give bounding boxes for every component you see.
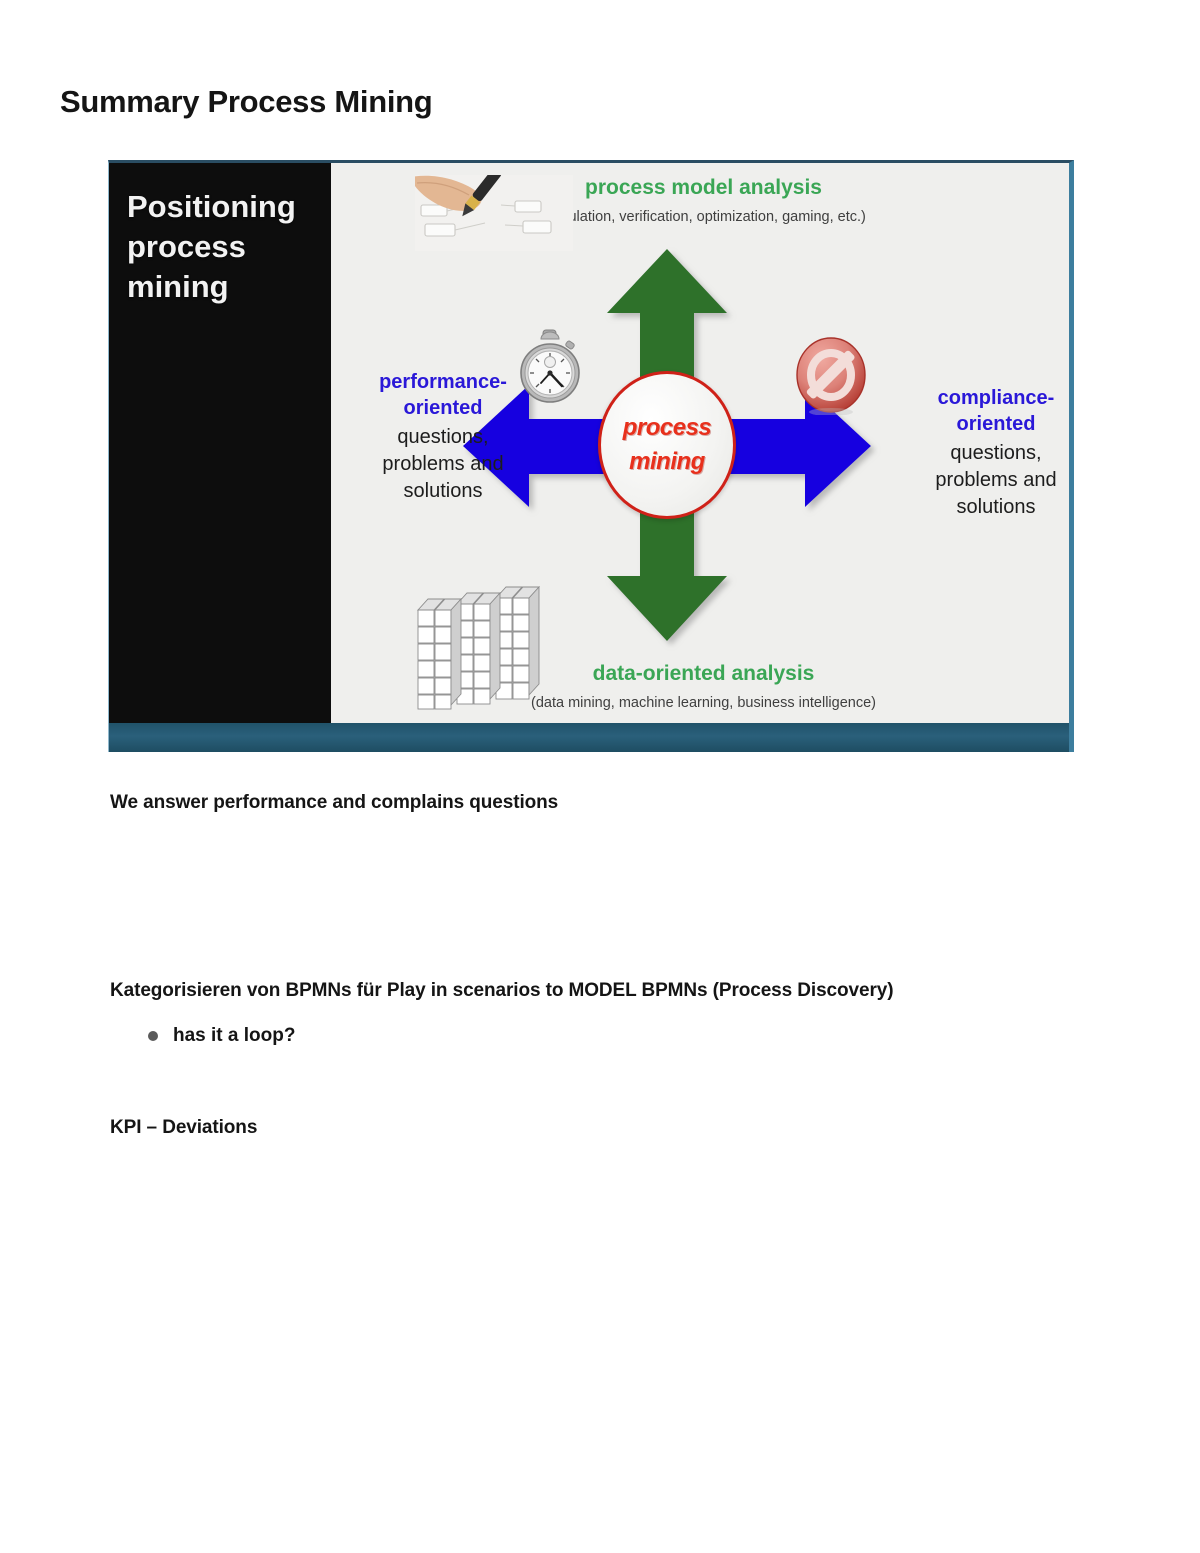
list-item: has it a loop? [148, 1025, 295, 1047]
label-performance-oriented: performance- oriented questions, problem… [343, 369, 543, 505]
label-compliance-oriented-body-line-3: solutions [901, 494, 1074, 521]
note-line-1: We answer performance and complains ques… [110, 792, 558, 814]
label-performance-oriented-body-line-3: solutions [343, 478, 543, 505]
center-label-line-2: mining [629, 445, 705, 479]
label-performance-oriented-body-line-1: questions, [343, 424, 543, 451]
hand-drawing-process-photo [415, 175, 573, 251]
label-compliance-oriented-heading-line-2: oriented [901, 411, 1074, 437]
bullet-dot-icon [148, 1031, 158, 1041]
slide-sidebar: Positioning process mining [109, 163, 331, 726]
label-performance-oriented-heading-line-1: performance- [343, 369, 543, 395]
label-compliance-oriented-heading-line-1: compliance- [901, 385, 1074, 411]
data-cube-icon [406, 558, 558, 710]
note-line-2: Kategorisieren von BPMNs für Play in sce… [110, 980, 893, 1002]
label-compliance-oriented-body-line-1: questions, [901, 440, 1074, 467]
slide-sidebar-title: Positioning process mining [127, 187, 296, 307]
label-compliance-oriented: compliance- oriented questions, problems… [901, 385, 1074, 521]
center-label-process-mining: process mining [598, 371, 736, 519]
slide-content: Positioning process mining [109, 163, 1069, 726]
slide-sidebar-title-line-3: mining [127, 267, 296, 307]
label-performance-oriented-heading-line-2: oriented [343, 395, 543, 421]
label-performance-oriented-body: questions, problems and solutions [343, 424, 543, 506]
slide-diagram-area: process mining process model analysis (s… [331, 163, 1069, 726]
prohibition-sign-icon [793, 331, 869, 415]
label-performance-oriented-heading: performance- oriented [343, 369, 543, 422]
center-label-line-1: process [623, 411, 712, 445]
slide-image-positioning-process-mining: Positioning process mining [108, 160, 1074, 752]
page-title: Summary Process Mining [60, 84, 432, 120]
label-compliance-oriented-heading: compliance- oriented [901, 385, 1074, 438]
label-performance-oriented-body-line-2: problems and [343, 451, 543, 478]
label-compliance-oriented-body-line-2: problems and [901, 467, 1074, 494]
label-compliance-oriented-body: questions, problems and solutions [901, 440, 1074, 522]
note-line-3: KPI – Deviations [110, 1117, 257, 1139]
slide-sidebar-title-line-2: process [127, 227, 296, 267]
slide-bottom-bar [109, 723, 1069, 752]
bullet-text: has it a loop? [173, 1025, 295, 1047]
stopwatch-icon [517, 329, 583, 407]
slide-sidebar-title-line-1: Positioning [127, 187, 296, 227]
